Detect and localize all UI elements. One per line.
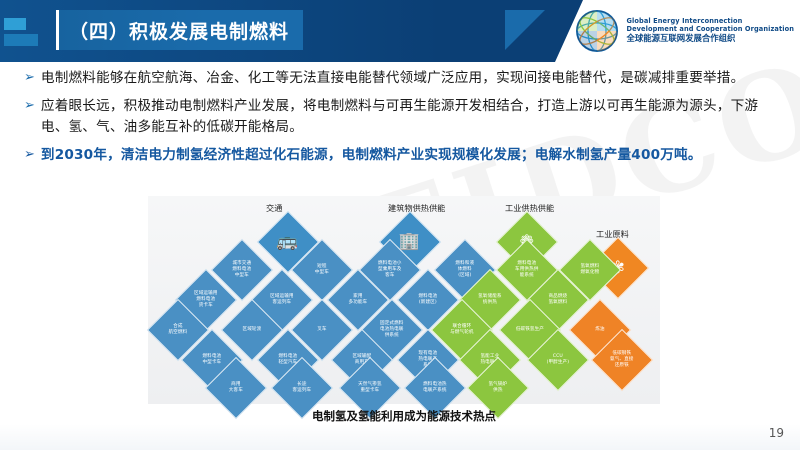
diagram-node-label: 燃料电池车用供热供能系统 bbox=[506, 261, 548, 280]
slide-header: （四）积极发展电制燃料 Global Energy I bbox=[0, 0, 800, 62]
diagram-node-label: 商用大客车 bbox=[215, 382, 257, 394]
decor-block-2 bbox=[4, 34, 38, 46]
category-label-2: 建筑物供热供能 bbox=[388, 202, 445, 214]
diagram-node-label: CCU(甲醇生产) bbox=[537, 354, 579, 366]
diagram-node-label: 区域轮渡 bbox=[231, 327, 273, 333]
diagram-node-label: 低碳钢铁氨气、直接还原铁 bbox=[601, 351, 643, 370]
bullet-item-1: ➢ 电制燃料能够在航空航海、冶金、化工等无法直接电能替代领域广泛应用，实现间接电… bbox=[24, 68, 780, 89]
bullet-list: ➢ 电制燃料能够在航空航海、冶金、化工等无法直接电能替代领域广泛应用，实现间接电… bbox=[24, 68, 780, 173]
category-label-1: 交通 bbox=[266, 202, 282, 214]
decor-block-1 bbox=[4, 18, 26, 30]
diagram-node-label: 低碳铁氢生产 bbox=[509, 327, 551, 333]
category-label-4: 工业原料 bbox=[596, 228, 629, 240]
bullet-item-2: ➢ 应着眼长远，积极推动电制燃料产业发展，将电制燃料与可再生能源开发相结合，打造… bbox=[24, 96, 780, 138]
diagram-node-label: 燃料电池热电联产系统 bbox=[414, 382, 456, 394]
diagram-node-label: 城市交通燃料电池中型车 bbox=[221, 261, 263, 280]
diagram-node-label: 燃料电池(新建区) bbox=[407, 294, 449, 306]
diagram-node-label: 合成航空燃料 bbox=[157, 324, 199, 336]
bullet-marker-icon: ➢ bbox=[24, 68, 35, 88]
diagram-node-label: 氢氧储能系统供热 bbox=[469, 294, 511, 306]
bullet-marker-icon: ➢ bbox=[24, 96, 35, 116]
diagram-node-label: 商品燃烧氢氧燃料 bbox=[537, 294, 579, 306]
diagram-node-label: 固定式燃料电池热电联供系统 bbox=[371, 321, 413, 340]
category-label-3: 工业供热供能 bbox=[505, 202, 554, 214]
logo-en-line2: Development and Cooperation Organization bbox=[627, 26, 795, 34]
diagram-caption: 电制氢及氢能利用成为能源技术热点 bbox=[148, 408, 660, 424]
bullet-text-1: 电制燃料能够在航空航海、冶金、化工等无法直接电能替代领域广泛应用，实现间接电能替… bbox=[41, 68, 744, 89]
hydrogen-application-diagram: 交通建筑物供热供能工业供热供能工业原料🚌🏢❁✾城市交通燃料电池中型车短程中型车燃… bbox=[148, 196, 660, 404]
diagram-node-label: 燃料和液体燃料(区域) bbox=[444, 261, 486, 280]
slide: （四）积极发展电制燃料 Global Energy I bbox=[0, 0, 800, 450]
header-decor-blocks bbox=[4, 18, 52, 48]
diagram-node-label: 家用多功能车 bbox=[337, 294, 379, 306]
diagram-node-label: 燃料电池小型乘用车及客车 bbox=[369, 261, 411, 280]
diagram-node-label: 炼油 bbox=[579, 327, 621, 333]
diagram-node-label: 氢氧燃料燃氧化物 bbox=[569, 264, 611, 276]
logo-cn: 全球能源互联网发展合作组织 bbox=[627, 34, 795, 44]
page-number: 19 bbox=[769, 426, 784, 440]
footer-band bbox=[0, 424, 800, 450]
diagram-node-label: 长途客运列车 bbox=[281, 382, 323, 394]
diagram-node-label: 叉车 bbox=[301, 327, 343, 333]
bullet-item-3: ➢ 到2030年，清洁电力制氢经济性超过化石能源，电制燃料产业实现规模化发展；电… bbox=[24, 145, 780, 166]
globe-icon bbox=[574, 8, 620, 54]
diagram-node-label: 天然气掺氢重型卡车 bbox=[349, 382, 391, 394]
building-icon-glyph: 🏢 bbox=[399, 233, 420, 250]
title-bar: （四）积极发展电制燃料 bbox=[56, 10, 303, 50]
diagram-node-label: 联合循环与燃气轮机 bbox=[441, 324, 483, 336]
bullet-marker-icon: ➢ bbox=[24, 145, 35, 165]
diagram-node-label: 短程中型车 bbox=[301, 264, 343, 276]
logo-text: Global Energy Interconnection Developmen… bbox=[627, 18, 795, 44]
organization-logo: Global Energy Interconnection Developmen… bbox=[574, 8, 795, 54]
diagram-node-label: 氢气锅炉供热 bbox=[477, 382, 519, 394]
bullet-text-3: 到2030年，清洁电力制氢经济性超过化石能源，电制燃料产业实现规模化发展；电解水… bbox=[41, 145, 702, 166]
diagram-node-label: 区域运输用燃料电池货卡车 bbox=[185, 291, 227, 310]
transport-icon-glyph: 🚌 bbox=[277, 233, 298, 250]
diagram-node-label: 区域运输用客运列车 bbox=[261, 294, 303, 306]
page-title: （四）积极发展电制燃料 bbox=[69, 17, 289, 44]
bullet-text-2: 应着眼长远，积极推动电制燃料产业发展，将电制燃料与可再生能源开发相结合，打造上游… bbox=[41, 96, 780, 138]
